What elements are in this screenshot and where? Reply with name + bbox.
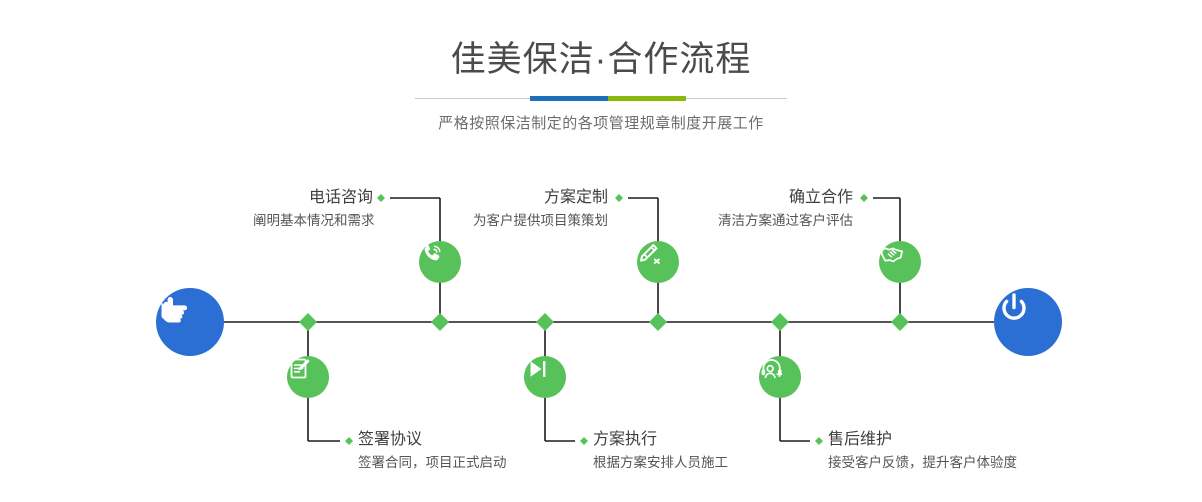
step-title-3: 方案定制 — [463, 188, 608, 208]
label-diamond-step-6 — [815, 437, 823, 445]
step-title-5: 确立合作 — [708, 188, 853, 208]
timeline-diamond-4 — [649, 313, 667, 331]
step-icon-6[interactable] — [759, 356, 801, 398]
step-title-2: 签署协议 — [358, 430, 507, 450]
flow-end-endpoint[interactable] — [994, 288, 1062, 356]
step-desc-1: 阐明基本情况和需求 — [253, 211, 373, 230]
step-label-3: 方案定制 为客户提供项目策策划 — [463, 188, 608, 230]
label-diamond-step-1 — [377, 194, 385, 202]
step-desc-3: 为客户提供项目策策划 — [463, 211, 608, 230]
flow-start-endpoint[interactable] — [156, 288, 224, 356]
step-icon-1[interactable] — [419, 241, 461, 283]
cooperation-flow-infographic: 佳美保洁·合作流程 严格按照保洁制定的各项管理规章制度开展工作 — [0, 0, 1202, 502]
step-label-6: 售后维护 接受客户反馈，提升客户体验度 — [828, 430, 1017, 472]
step-desc-5: 清洁方案通过客户评估 — [708, 211, 853, 230]
step-desc-2: 签署合同，项目正式启动 — [358, 453, 507, 472]
label-diamond-step-4 — [580, 437, 588, 445]
timeline-diamond-2 — [431, 313, 449, 331]
flow-connectors — [0, 0, 1202, 502]
label-diamond-step-2 — [345, 437, 353, 445]
timeline-diamond-5 — [771, 313, 789, 331]
step-icon-2[interactable] — [287, 356, 329, 398]
step-icon-3[interactable] — [637, 241, 679, 283]
step-desc-6: 接受客户反馈，提升客户体验度 — [828, 453, 1017, 472]
timeline-diamond-1 — [299, 313, 317, 331]
step-label-5: 确立合作 清洁方案通过客户评估 — [708, 188, 853, 230]
step-icon-4[interactable] — [524, 356, 566, 398]
step-icon-5[interactable] — [879, 241, 921, 283]
timeline-diamond-3 — [536, 313, 554, 331]
step-title-1: 电话咨询 — [253, 188, 373, 208]
step-title-4: 方案执行 — [593, 430, 728, 450]
step-title-6: 售后维护 — [828, 430, 1017, 450]
label-diamond-step-5 — [860, 194, 868, 202]
timeline-diamond-6 — [891, 313, 909, 331]
step-desc-4: 根据方案安排人员施工 — [593, 453, 728, 472]
step-label-1: 电话咨询 阐明基本情况和需求 — [253, 188, 373, 230]
flow-diagram: 电话咨询 阐明基本情况和需求 方案定制 为客户提供项目策策划 确立合作 清洁方案… — [0, 0, 1202, 502]
label-diamond-step-3 — [615, 194, 623, 202]
step-label-4: 方案执行 根据方案安排人员施工 — [593, 430, 728, 472]
step-label-2: 签署协议 签署合同，项目正式启动 — [358, 430, 507, 472]
